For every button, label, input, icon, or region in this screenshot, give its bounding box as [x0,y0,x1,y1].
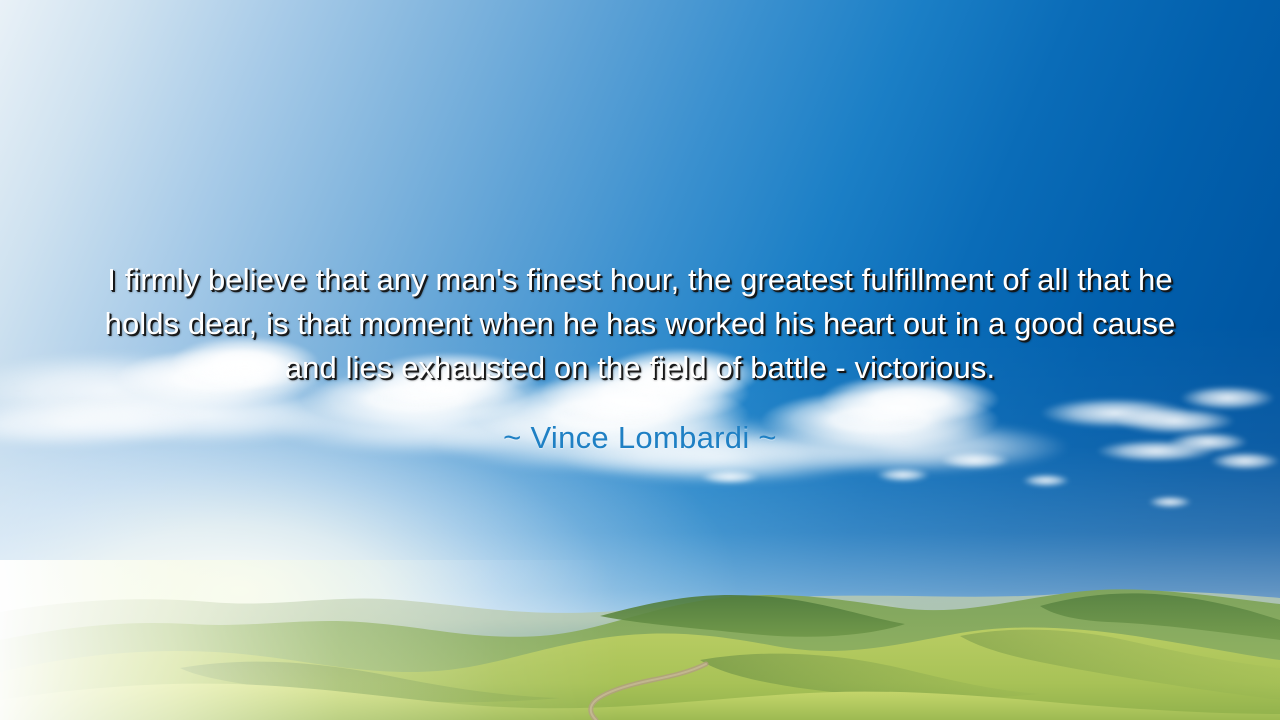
landscape-layer [0,0,1280,720]
land-haze-glare [0,560,620,720]
quote-wallpaper: I firmly believe that any man's finest h… [0,0,1280,720]
